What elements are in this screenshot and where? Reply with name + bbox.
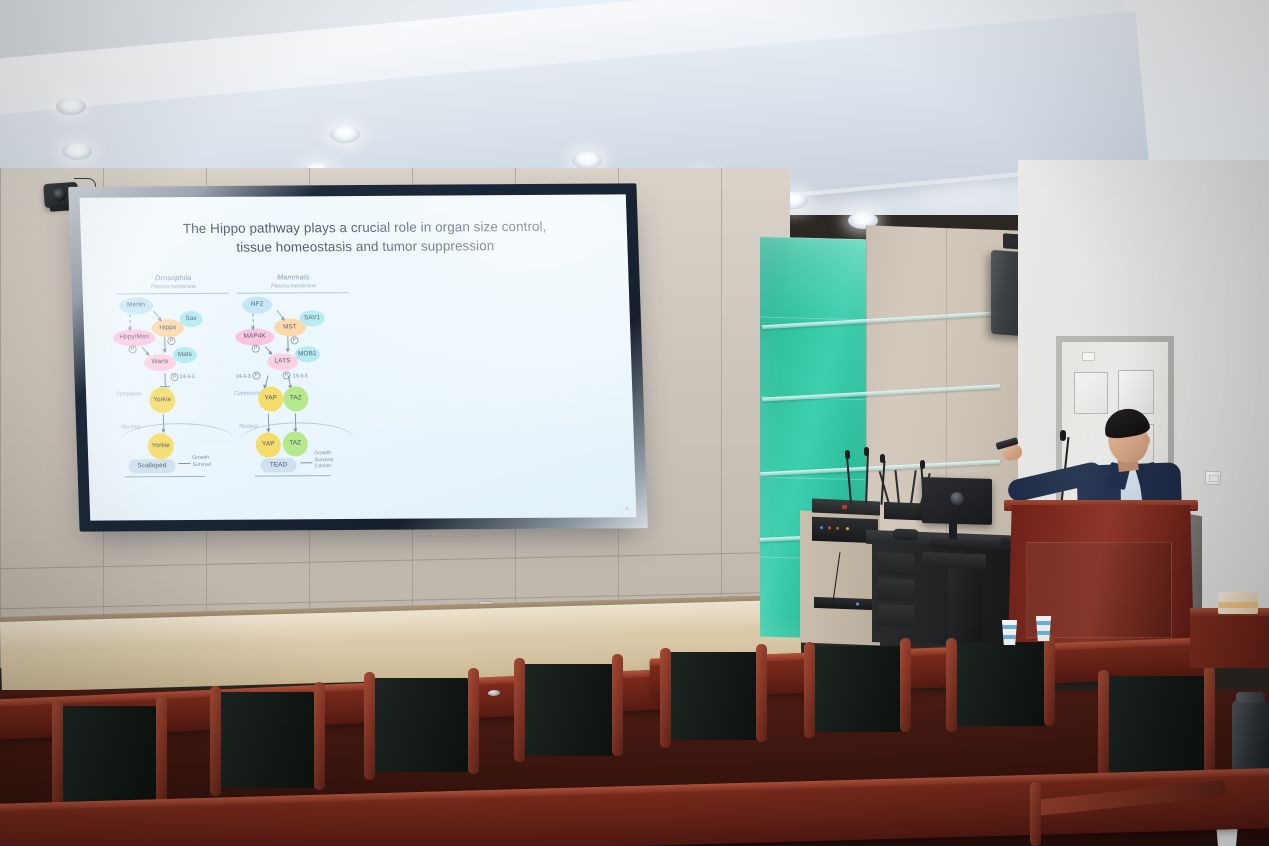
chair-post: [804, 642, 815, 738]
node-sav: Sav: [179, 311, 203, 327]
chair-post: [1044, 634, 1055, 726]
hippo-pathway-diagram: Drosophila Plasma membrane Merlin Hippo …: [112, 272, 379, 488]
phospho-badge: P: [290, 336, 298, 344]
recessed-downlight: [572, 152, 602, 169]
phospho-1433-label: 14-3-3: [179, 374, 194, 380]
column-heading: Drosophila: [112, 273, 234, 283]
outcome-line-1: Growth: [192, 455, 211, 462]
arrow-map4k-to-lats: [265, 346, 273, 354]
plasma-membrane-label: Plasma membrane: [112, 284, 234, 291]
pc-tower: [948, 567, 982, 644]
plasma-membrane-label: Plasma membrane: [232, 283, 354, 290]
phospho-badge: P: [252, 372, 260, 380]
node-scalloped: Scalloped: [128, 459, 175, 473]
microphone-head-icon: [864, 447, 869, 456]
node-merlin: Merlin: [119, 297, 154, 314]
arrow-nf2-to-mst: [277, 310, 284, 318]
amp-led-icon: [836, 527, 839, 530]
chair-back: [812, 646, 902, 732]
podium: [1008, 505, 1194, 651]
outcome-connector: [178, 463, 190, 464]
desk-drawer[interactable]: [878, 552, 914, 575]
microphone-head-icon: [920, 460, 925, 469]
arrow-merlin-to-hippo: [153, 311, 160, 319]
chair-post: [210, 686, 221, 796]
chair-back: [668, 652, 758, 740]
tissue-box: [1218, 592, 1258, 614]
node-lats: LATS: [267, 353, 299, 370]
arrow-merlin-to-hppy: [129, 314, 130, 328]
slide-title-line-1: The Hippo pathway plays a crucial role i…: [106, 216, 623, 239]
node-hppy-msn: Hppy/Msn: [113, 329, 156, 346]
node-mob1: MOB1: [295, 346, 321, 362]
chair-post: [900, 638, 911, 732]
node-hippo: Hippo: [152, 319, 185, 337]
slide-title-line-2: tissue homeostasis and tumor suppression: [107, 236, 624, 259]
outcome-line-1: Growth: [314, 450, 333, 457]
chair-post: [1098, 670, 1109, 782]
node-map4k: MAP4K: [235, 329, 275, 346]
chair-back: [522, 664, 614, 756]
column-heading: Mammals: [232, 272, 354, 282]
node-yorkie-nucleus: Yorkie: [147, 433, 174, 459]
chair-post: [364, 672, 375, 780]
node-warts: Warts: [144, 354, 177, 371]
node-yap-nucleus: YAP: [255, 432, 281, 457]
chair-post: [1204, 666, 1215, 776]
outcome-label-mammals: Growth Survival Cancer: [314, 450, 333, 470]
amp-led-icon: [820, 526, 823, 529]
node-yap-cytoplasm: YAP: [258, 386, 284, 411]
desk-drawer[interactable]: [878, 604, 914, 627]
presenter-ear: [1142, 435, 1150, 446]
arrow-nf2-to-map4k: [252, 314, 253, 328]
node-sav1: SAV1: [299, 310, 325, 326]
tissue-box-stripe: [1218, 602, 1258, 608]
light-switch[interactable]: [1205, 471, 1221, 485]
dell-monitor[interactable]: [922, 477, 992, 525]
chair-post: [946, 638, 957, 732]
desk-drawer[interactable]: [878, 578, 914, 601]
chair-post: [756, 644, 767, 742]
arrow-hippo-to-warts: [164, 337, 165, 352]
microphone-head-icon: [880, 454, 885, 463]
chair-back: [218, 692, 314, 788]
chair-back: [954, 642, 1046, 726]
nucleus-label: Nucleus: [239, 424, 259, 430]
chair-post: [1030, 782, 1041, 846]
node-taz-nucleus: TAZ: [282, 431, 308, 456]
mixer-indicator-icon: [842, 505, 847, 509]
chair-back: [1106, 676, 1206, 776]
outcome-baseline: [125, 476, 205, 477]
outcome-label-drosophila: Growth Survival: [192, 455, 211, 468]
chair-post: [314, 682, 325, 790]
outcome-connector: [300, 462, 312, 463]
node-yorkie-cytoplasm: Yorkie: [149, 387, 176, 413]
chair-post: [660, 648, 671, 748]
arrow-hppy-to-warts: [142, 347, 150, 355]
inhibit-stem: [164, 373, 165, 387]
plasma-membrane-line: [237, 292, 349, 294]
arrow-mst-to-lats: [287, 336, 288, 351]
chair-post: [612, 654, 623, 756]
dvd-player: [814, 597, 874, 610]
phospho-badge: P: [167, 337, 175, 345]
phospho-1433-label-right: 14-3-3: [292, 373, 307, 379]
camera-lens-icon: [53, 188, 67, 202]
cytoplasm-label: Cytoplasm: [234, 391, 260, 397]
dell-logo-icon: [951, 492, 964, 505]
nucleus-label: Nucleus: [121, 424, 141, 430]
plasma-membrane-line: [117, 293, 229, 295]
chair-back: [60, 706, 156, 802]
outcome-line-2: Survival: [192, 461, 211, 468]
arrow-yap-into-nucleus: [268, 414, 270, 432]
node-nf2: NF2: [242, 297, 273, 314]
slide-title: The Hippo pathway plays a crucial role i…: [106, 216, 623, 258]
recessed-downlight: [56, 98, 86, 115]
cytoplasm-label: Cytoplasm: [116, 391, 142, 397]
phospho-badge: P: [252, 345, 260, 353]
phospho-badge: P: [170, 373, 178, 381]
slide-surface: The Hippo pathway plays a crucial role i…: [80, 194, 637, 520]
switch-rocker-icon: [1209, 475, 1219, 482]
outcome-baseline: [255, 475, 331, 476]
audio-mixer[interactable]: [812, 499, 880, 516]
outcome-line-3: Cancer: [314, 463, 333, 470]
flask-cap: [1236, 692, 1265, 703]
recessed-downlight: [330, 126, 360, 143]
pathway-column-drosophila: Drosophila Plasma membrane Merlin Hippo …: [112, 273, 241, 489]
slide-page-number: 4: [625, 506, 628, 512]
node-tead: TEAD: [260, 458, 296, 472]
conference-speakerphone[interactable]: [893, 529, 919, 541]
node-taz-cytoplasm: TAZ: [283, 386, 309, 411]
door-sign: [1082, 352, 1095, 361]
chair-post: [514, 658, 525, 762]
phospho-badge: P: [128, 345, 136, 353]
chair-post: [52, 700, 63, 810]
phospho-1433-label-left: 14-3-3: [235, 374, 250, 380]
dvd-led-icon: [856, 602, 859, 605]
amp-led-icon: [846, 527, 849, 530]
projection-screen[interactable]: The Hippo pathway plays a crucial role i…: [68, 183, 648, 531]
recessed-downlight: [62, 143, 92, 160]
amp-led-icon: [828, 526, 831, 529]
inhibit-warts-yorkie: [159, 373, 169, 387]
chair-post: [156, 696, 167, 806]
chair-back: [372, 678, 468, 772]
chair-post: [468, 668, 479, 774]
cup-stripe: [1000, 625, 1019, 629]
microphone-head-icon: [845, 450, 851, 459]
desk-keyboard-tray[interactable]: [922, 552, 986, 568]
node-mats: Mats: [173, 347, 198, 363]
pathway-column-mammals: Mammals Plasma membrane NF2 MST SAV1 MAP…: [232, 272, 361, 488]
side-table: [1190, 608, 1269, 668]
lecture-hall-scene: The Hippo pathway plays a crucial role i…: [0, 0, 1269, 846]
cup-stripe: [1034, 621, 1053, 625]
